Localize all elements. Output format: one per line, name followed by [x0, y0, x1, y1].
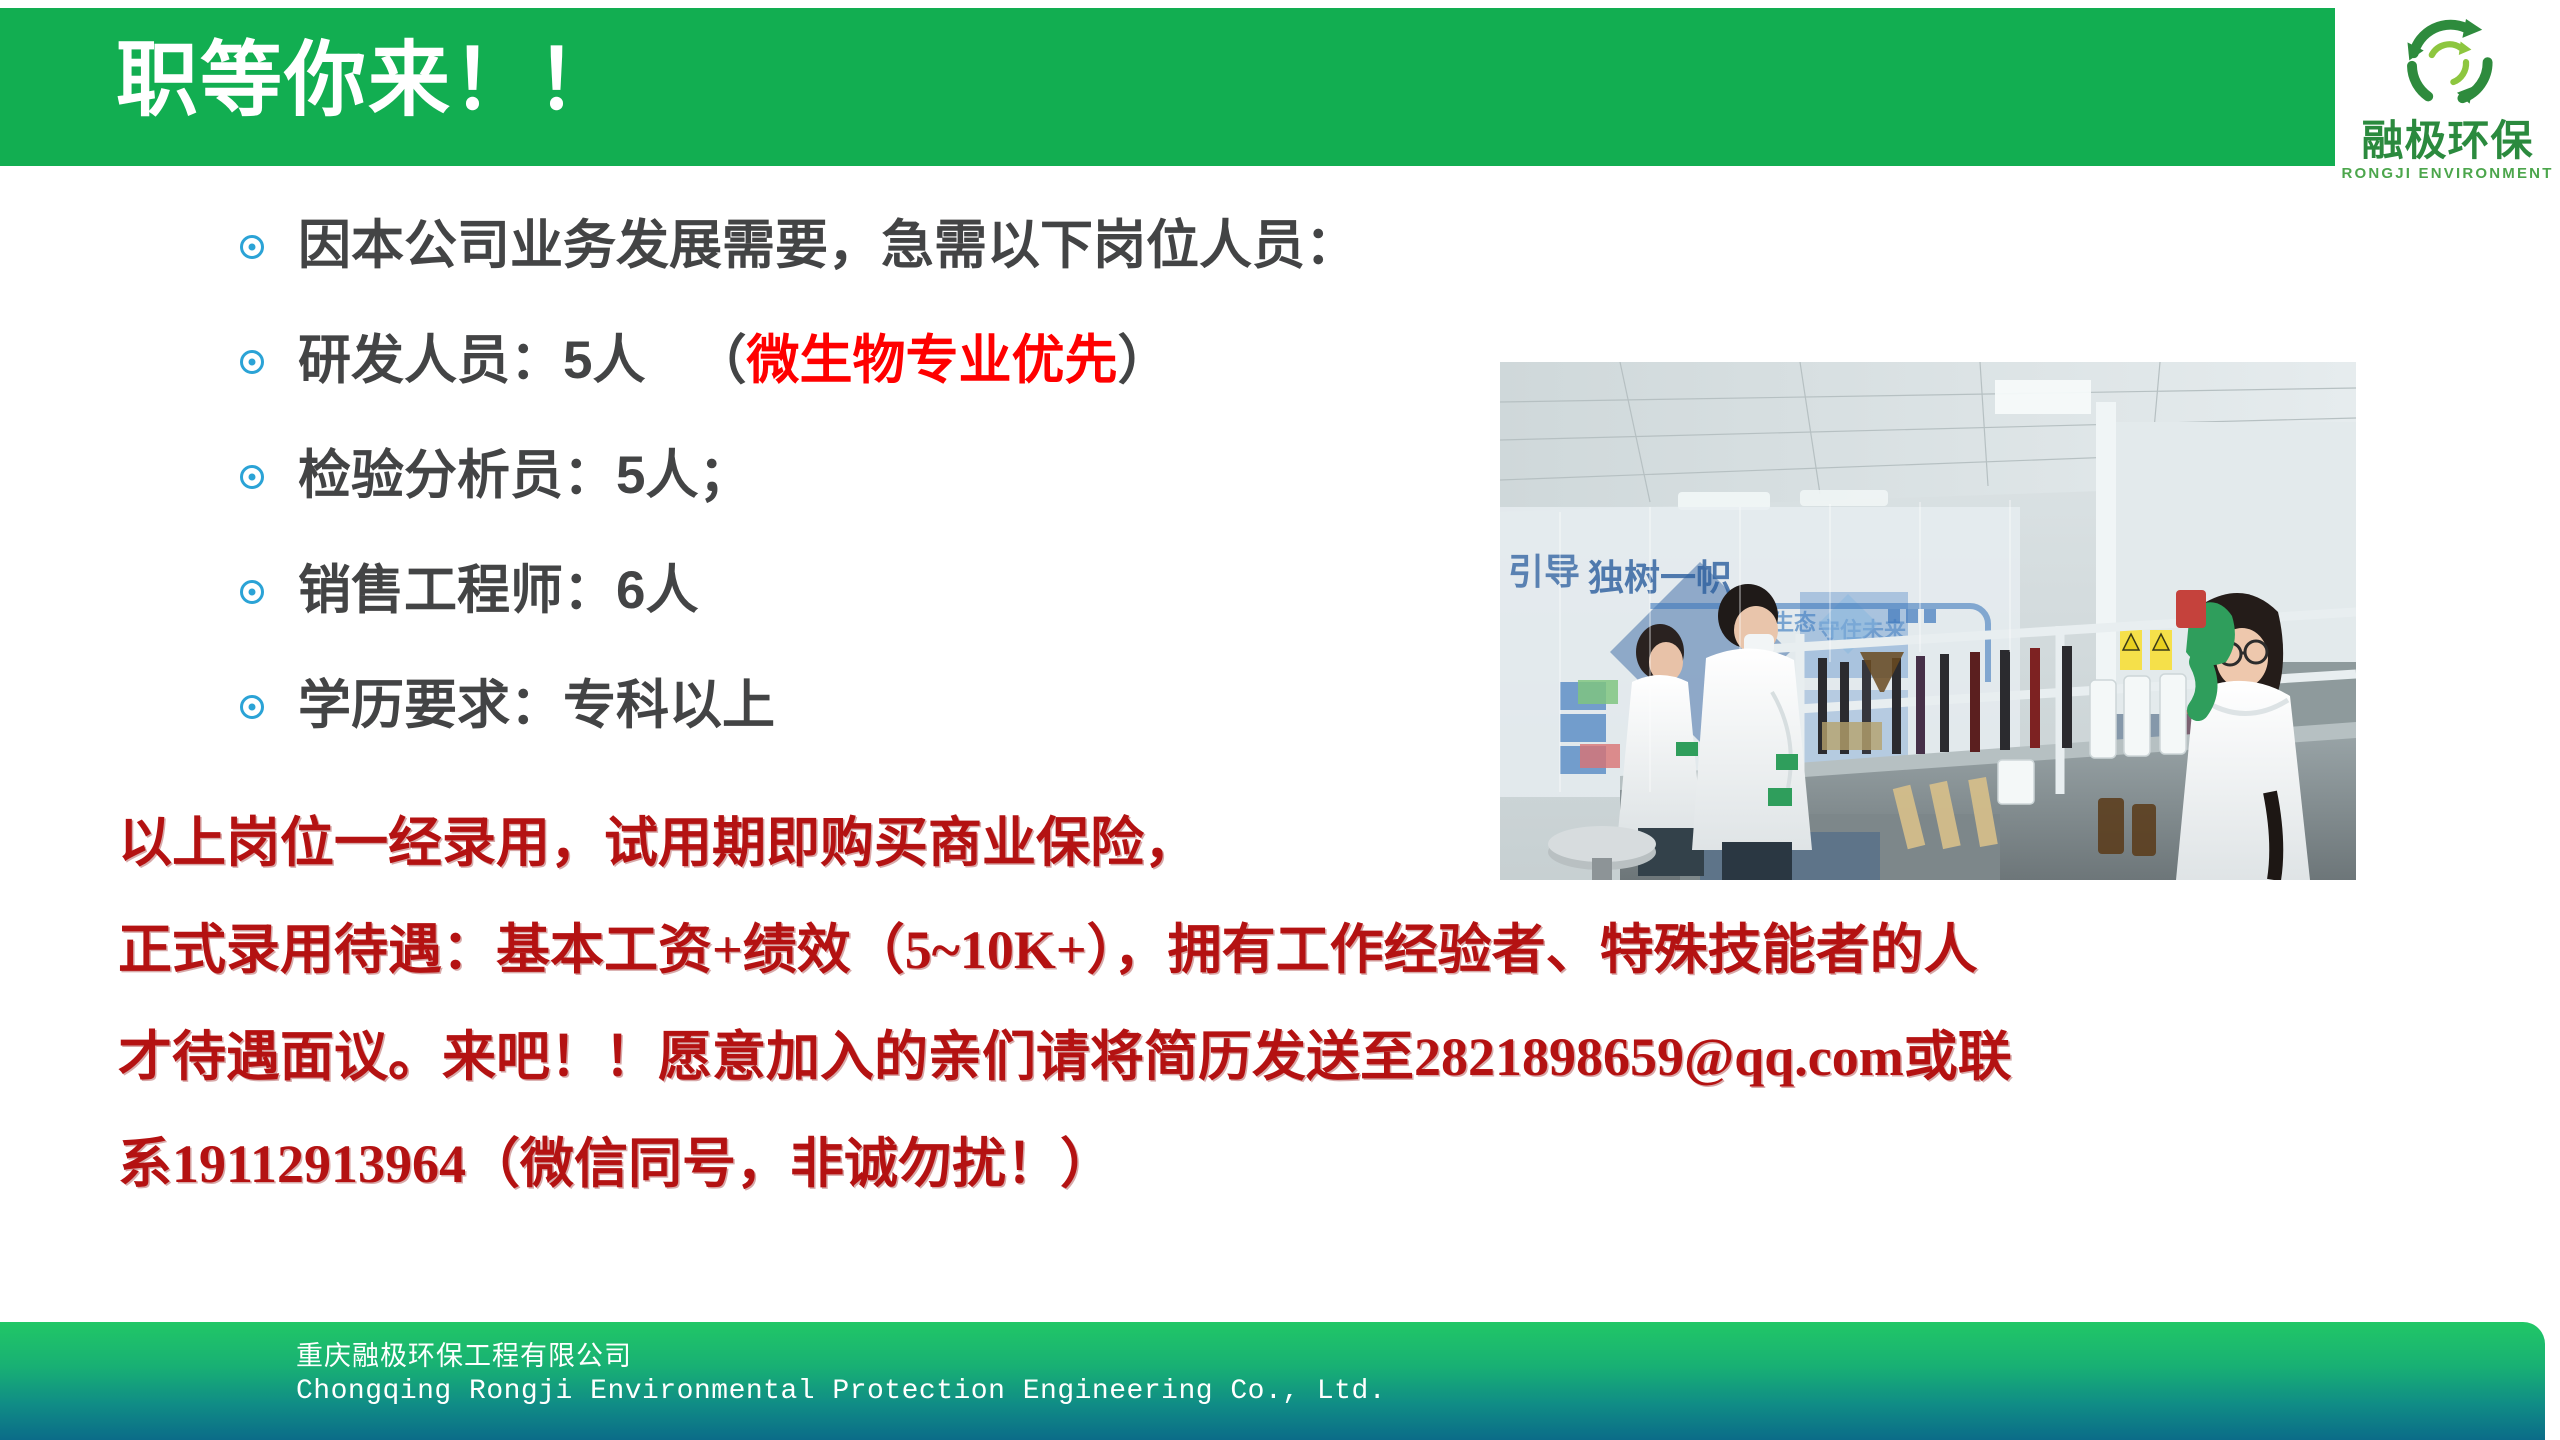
bullet-dot-icon	[240, 580, 264, 604]
bullet-dot-icon	[240, 465, 264, 489]
paren-open: （	[693, 331, 746, 390]
bullet-dot-icon	[240, 350, 264, 374]
bullet-item-label: 销售工程师：6人	[298, 562, 698, 620]
svg-text:引导: 引导	[1508, 551, 1580, 592]
bullet-item-label: 检验分析员：5人；	[298, 447, 751, 505]
footer-company-chinese: 重庆融极环保工程有限公司	[296, 1334, 632, 1373]
list-item: 因本公司业务发展需要，急需以下岗位人员：	[240, 210, 1490, 283]
bullet-dot-icon	[240, 235, 264, 259]
notice-line: 系19112913964（微信同号，非诚勿扰！）	[118, 1111, 2498, 1218]
list-item: 研发人员：5人（微生物专业优先）	[240, 325, 1490, 398]
bullet-highlight: 微生物专业优先	[746, 331, 1117, 390]
notice-line: 才待遇面议。来吧！！愿意加入的亲们请将简历发送至2821898659@qq.co…	[118, 1004, 2498, 1111]
bullet-item-label: 因本公司业务发展需要，急需以下岗位人员：	[298, 217, 1358, 275]
logo-chinese-name: 融极环保	[2361, 120, 2533, 162]
bullet-dot-icon	[240, 695, 264, 719]
list-item: 销售工程师：6人	[240, 555, 1490, 628]
paren-close: ）	[1117, 331, 1170, 390]
list-item: 检验分析员：5人；	[240, 440, 1490, 513]
footer-company-english: Chongqing Rongji Environmental Protectio…	[296, 1376, 1386, 1407]
footer-band: 重庆融极环保工程有限公司 Chongqing Rongji Environmen…	[0, 1322, 2545, 1440]
bullet-item-label: 学历要求：专科以上	[298, 677, 775, 735]
job-bullet-list: 因本公司业务发展需要，急需以下岗位人员： 研发人员：5人（微生物专业优先） 检验…	[240, 198, 1490, 743]
list-item: 学历要求：专科以上	[240, 670, 1490, 743]
recycle-circle-logo-icon	[2394, 10, 2502, 118]
company-logo: 融极环保 RONGJI ENVIRONMENT	[2335, 0, 2560, 198]
bullet-item-label: 研发人员：5人（微生物专业优先）	[298, 332, 1170, 390]
page-title: 职等你来！！	[116, 26, 620, 137]
notice-line: 正式录用待遇：基本工资+绩效（5~10K+），拥有工作经验者、特殊技能者的人	[118, 897, 2498, 1004]
bullet-item-text: 研发人员：5人	[298, 331, 645, 390]
logo-english-name: RONGJI ENVIRONMENT	[2341, 166, 2553, 181]
recruitment-notice: 以上岗位一经录用，试用期即购买商业保险， 正式录用待遇：基本工资+绩效（5~10…	[118, 790, 2498, 1218]
header-banner: 职等你来！！	[0, 8, 2395, 166]
notice-line: 以上岗位一经录用，试用期即购买商业保险，	[118, 790, 2498, 897]
